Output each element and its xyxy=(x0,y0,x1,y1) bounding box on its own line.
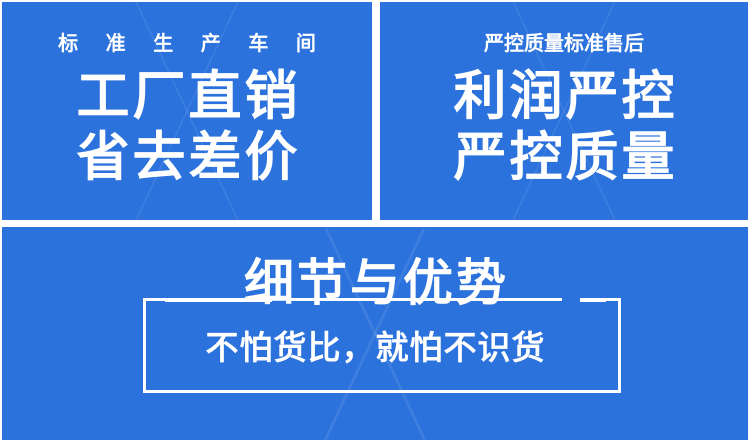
details-frame-title-notch xyxy=(225,227,465,229)
promo-banner: 标 准 生 产 车 间 工厂直销 省去差价 严控质量标准售后 利润严控 严控质量… xyxy=(0,0,750,440)
panel-details-advantages: 细节与优势 不怕货比，就怕不识货 xyxy=(2,227,748,440)
panel-factory-direct-headline-line2: 省去差价 xyxy=(74,128,301,188)
panel-quality-control-content: 严控质量标准售后 利润严控 严控质量 xyxy=(380,2,748,220)
panel-quality-control: 严控质量标准售后 利润严控 严控质量 xyxy=(380,2,748,220)
details-subtitle: 不怕货比，就怕不识货 xyxy=(2,331,748,364)
panel-quality-control-eyebrow: 严控质量标准售后 xyxy=(484,34,644,54)
panel-quality-control-headline-line2: 严控质量 xyxy=(451,128,678,188)
details-title: 细节与优势 xyxy=(2,258,748,308)
panel-factory-direct: 标 准 生 产 车 间 工厂直销 省去差价 xyxy=(2,2,372,220)
panel-factory-direct-headline-line1: 工厂直销 xyxy=(74,67,301,127)
panel-factory-direct-content: 标 准 生 产 车 间 工厂直销 省去差价 xyxy=(2,2,372,220)
panel-factory-direct-eyebrow: 标 准 生 产 车 间 xyxy=(47,34,327,54)
panel-quality-control-headline-line1: 利润严控 xyxy=(451,67,678,127)
